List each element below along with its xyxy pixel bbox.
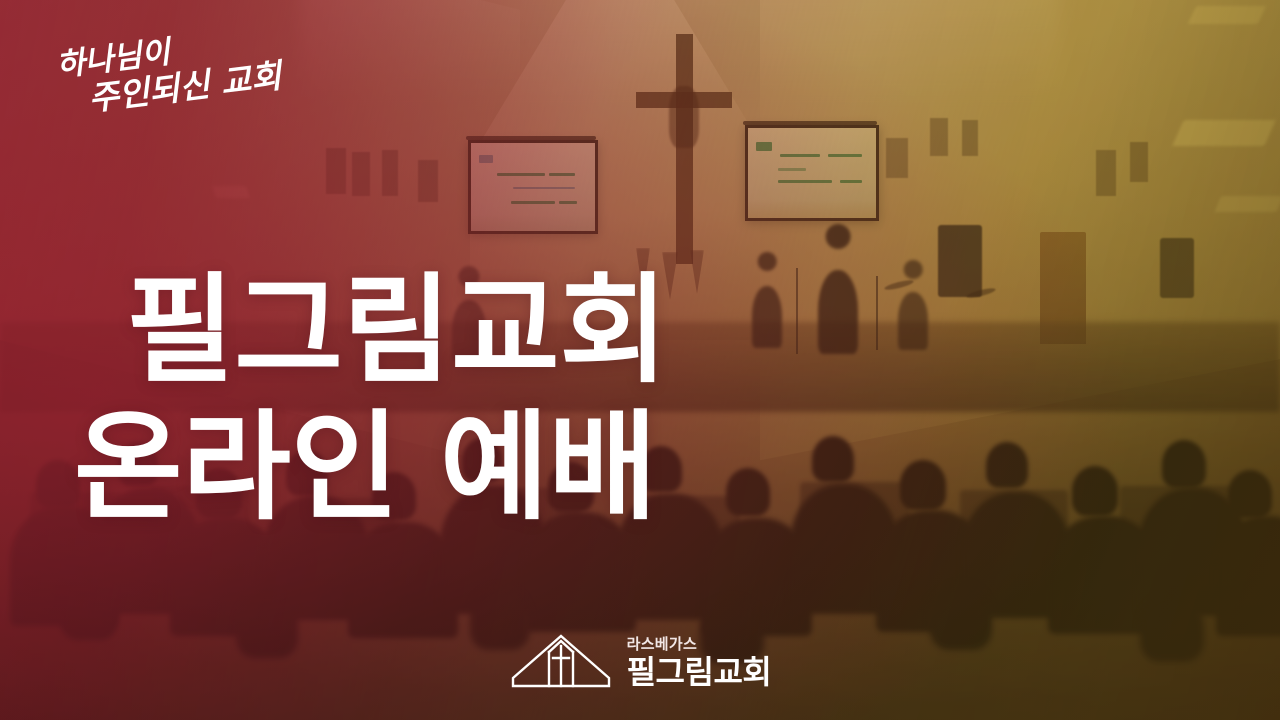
headline: 필그림교회 온라인 예배: [74, 262, 834, 536]
brand-name: 필그림교회: [627, 656, 772, 688]
title-card-stage: 하나님이 주인되신 교회 필그림교회 온라인 예배: [0, 0, 1280, 720]
content-layer: 하나님이 주인되신 교회 필그림교회 온라인 예배: [0, 0, 1280, 720]
brand-lockup: 라스베가스 필그림교회: [0, 632, 1280, 690]
church-roof-cross-icon: [509, 632, 613, 690]
headline-line-2: 온라인 예배: [74, 399, 834, 536]
headline-line-1: 필그림교회: [74, 262, 834, 399]
brand-subtitle: 라스베가스: [627, 637, 698, 652]
slogan-handwriting: 하나님이 주인되신 교회: [52, 28, 292, 114]
brand-text-block: 라스베가스 필그림교회: [627, 637, 772, 690]
